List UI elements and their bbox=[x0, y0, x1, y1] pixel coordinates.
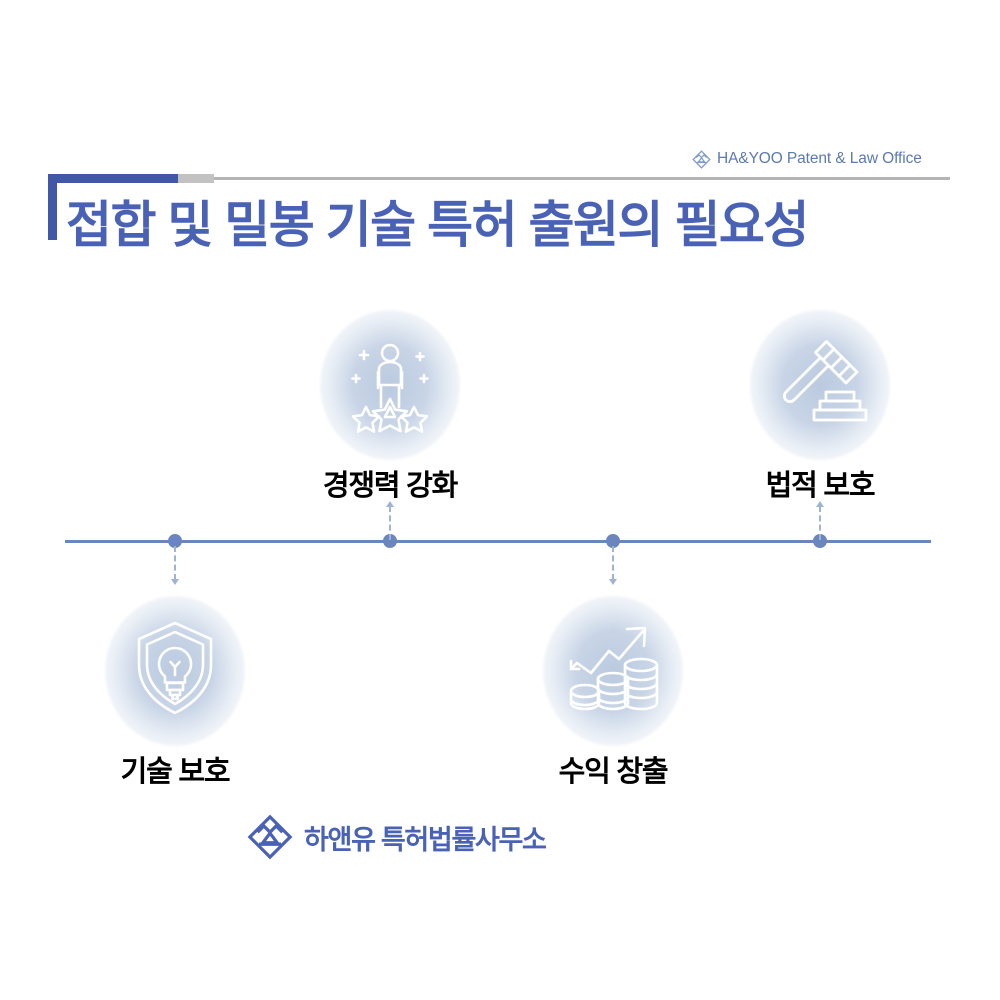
timeline-connector-4 bbox=[819, 506, 821, 540]
person-stars-icon bbox=[334, 327, 446, 444]
milestone-item[interactable]: 기술 보호 bbox=[45, 596, 305, 790]
milestone-label: 법적 보호 bbox=[766, 462, 875, 504]
milestone-item[interactable]: 수익 창출 bbox=[483, 596, 743, 790]
milestone-item[interactable]: 경쟁력 강화 bbox=[260, 310, 520, 504]
footer-brand: 하앤유 특허법률사무소 bbox=[247, 812, 546, 862]
timeline-arrow-down-3 bbox=[609, 579, 617, 585]
milestone-icon-wrap bbox=[538, 596, 688, 746]
timeline-connector-2 bbox=[389, 506, 391, 540]
gavel-icon bbox=[764, 327, 876, 444]
milestone-label: 수익 창출 bbox=[559, 748, 668, 790]
milestone-icon-wrap bbox=[100, 596, 250, 746]
shield-lightbulb-icon bbox=[119, 613, 231, 730]
hayoo-diamond-logo-icon bbox=[247, 814, 293, 860]
milestone-icon-wrap bbox=[315, 310, 465, 460]
growth-arrow-coins-icon bbox=[557, 613, 669, 730]
milestone-item[interactable]: 법적 보호 bbox=[690, 310, 950, 504]
milestone-icon-wrap bbox=[745, 310, 895, 460]
timeline-connector-3 bbox=[612, 546, 614, 580]
footer-brand-name: 하앤유 특허법률사무소 bbox=[304, 818, 546, 857]
milestone-label: 기술 보호 bbox=[121, 748, 230, 790]
timeline-arrow-down-1 bbox=[171, 579, 179, 585]
timeline-axis-line bbox=[65, 540, 931, 543]
milestone-label: 경쟁력 강화 bbox=[323, 462, 457, 504]
timeline-connector-1 bbox=[174, 546, 176, 580]
